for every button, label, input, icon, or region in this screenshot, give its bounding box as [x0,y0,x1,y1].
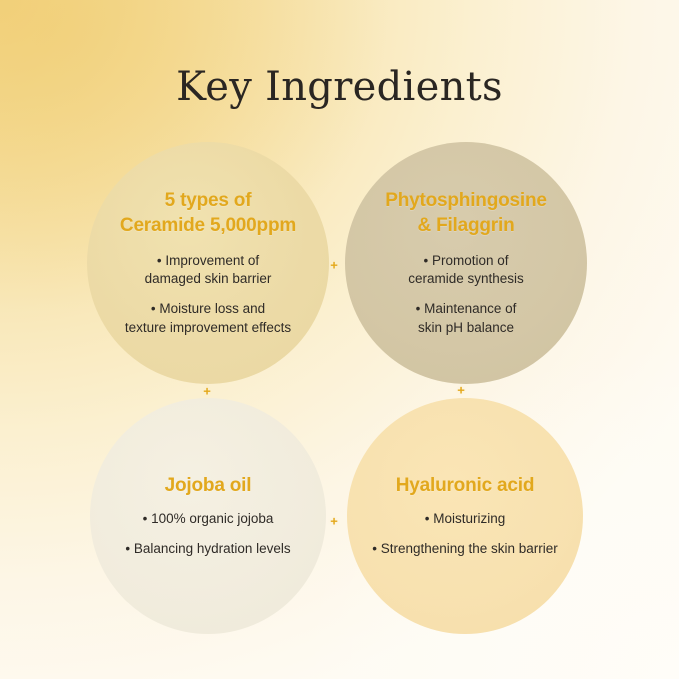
list-item: Balancing hydration levels [125,540,290,558]
list-item: Promotion of ceramide synthesis [408,252,524,288]
plus-icon-right: + [457,384,465,397]
ingredient-benefits-phytosphingosine: Promotion of ceramide synthesis Maintena… [408,252,524,337]
ingredient-circle-ceramide: 5 types of Ceramide 5,000ppm Improvement… [87,142,329,384]
ingredient-benefits-hyaluronic-acid: Moisturizing Strengthening the skin barr… [372,510,558,558]
ingredient-circle-phytosphingosine: Phytosphingosine & Filaggrin Promotion o… [345,142,587,384]
ingredient-heading-jojoba-oil: Jojoba oil [165,474,252,498]
ingredient-heading-phytosphingosine: Phytosphingosine & Filaggrin [385,189,546,238]
list-item: 100% organic jojoba [125,510,290,528]
ingredient-circle-hyaluronic-acid: Hyaluronic acid Moisturizing Strengtheni… [347,398,583,634]
list-item: Strengthening the skin barrier [372,540,558,558]
ingredient-heading-ceramide: 5 types of Ceramide 5,000ppm [120,189,296,238]
list-item: Improvement of damaged skin barrier [125,252,291,288]
ingredient-benefits-jojoba-oil: 100% organic jojoba Balancing hydration … [125,510,290,558]
key-ingredients-infographic: Key Ingredients 5 types of Ceramide 5,00… [0,0,679,679]
ingredient-benefits-ceramide: Improvement of damaged skin barrier Mois… [125,252,291,337]
list-item: Maintenance of skin pH balance [408,300,524,336]
ingredient-circle-jojoba-oil: Jojoba oil 100% organic jojoba Balancing… [90,398,326,634]
page-title: Key Ingredients [0,64,679,110]
plus-icon-left: + [203,385,211,398]
list-item: Moisture loss and texture improvement ef… [125,300,291,336]
ingredient-heading-hyaluronic-acid: Hyaluronic acid [396,474,535,498]
list-item: Moisturizing [372,510,558,528]
plus-icon-top: + [330,259,338,272]
plus-icon-bottom: + [330,515,338,528]
